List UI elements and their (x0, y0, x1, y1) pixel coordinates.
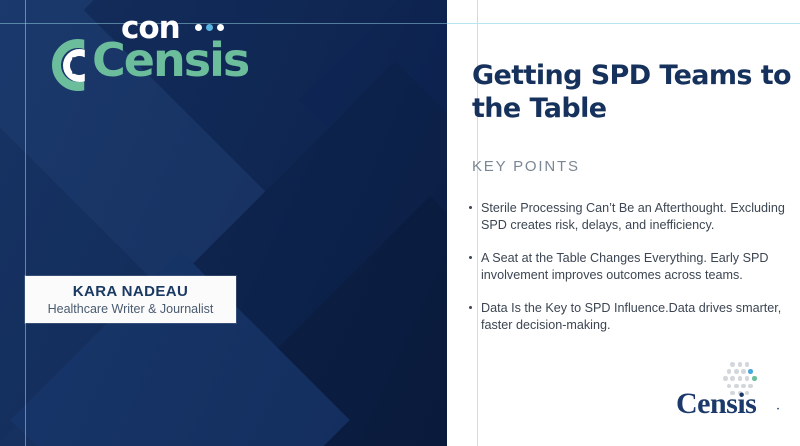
censis-trademark-symbol: • (777, 407, 779, 413)
list-item-text: Sterile Processing Can’t Be an Afterthou… (481, 201, 785, 232)
left-navy-panel: con Censis KARA NADEAU Healthcare Writer… (0, 0, 447, 446)
censis-dot (727, 369, 732, 374)
censis-dot (748, 369, 753, 374)
censis-dot (734, 369, 739, 374)
list-item: Data Is the Key to SPD Influence.Data dr… (467, 300, 792, 333)
censis-dot (741, 369, 746, 374)
speaker-name: KARA NADEAU (25, 283, 236, 301)
censis-dot (730, 376, 735, 381)
censis-dot (738, 376, 743, 381)
censis-brand-logo: Censis • (676, 362, 788, 424)
bullet-dot-icon (469, 256, 472, 259)
vertical-guide-line-left (25, 0, 26, 446)
censis-dot (730, 362, 735, 367)
key-points-list: Sterile Processing Can’t Be an Afterthou… (467, 200, 792, 350)
page-title: Getting SPD Teams to the Table (472, 59, 800, 125)
logo-dot-white-1 (195, 24, 202, 31)
bullet-dot-icon (469, 306, 472, 309)
list-item: Sterile Processing Can’t Be an Afterthou… (467, 200, 792, 233)
speaker-name-card: KARA NADEAU Healthcare Writer & Journali… (25, 276, 236, 323)
censis-dot (738, 362, 743, 367)
section-kicker: KEY POINTS (472, 158, 580, 176)
censis-dot (745, 376, 750, 381)
speaker-role: Healthcare Writer & Journalist (25, 301, 236, 317)
list-item: A Seat at the Table Changes Everything. … (467, 250, 792, 283)
censis-dot (752, 376, 757, 381)
censis-wordmark: Censis (676, 388, 756, 420)
censis-dot (723, 376, 728, 381)
logo-dot-white-2 (217, 24, 224, 31)
bullet-dot-icon (469, 206, 472, 209)
presentation-slide: con Censis KARA NADEAU Healthcare Writer… (0, 0, 800, 446)
concensis-logo-censis-text: Censis (92, 37, 248, 83)
list-item-text: A Seat at the Table Changes Everything. … (481, 251, 769, 282)
logo-dot-blue (206, 24, 213, 31)
list-item-text: Data Is the Key to SPD Influence.Data dr… (481, 301, 781, 332)
concensis-logo-dots-icon (195, 24, 224, 31)
horizontal-guide-line-right (447, 23, 800, 24)
concensis-logo: con Censis (52, 13, 242, 91)
censis-dot (745, 362, 750, 367)
